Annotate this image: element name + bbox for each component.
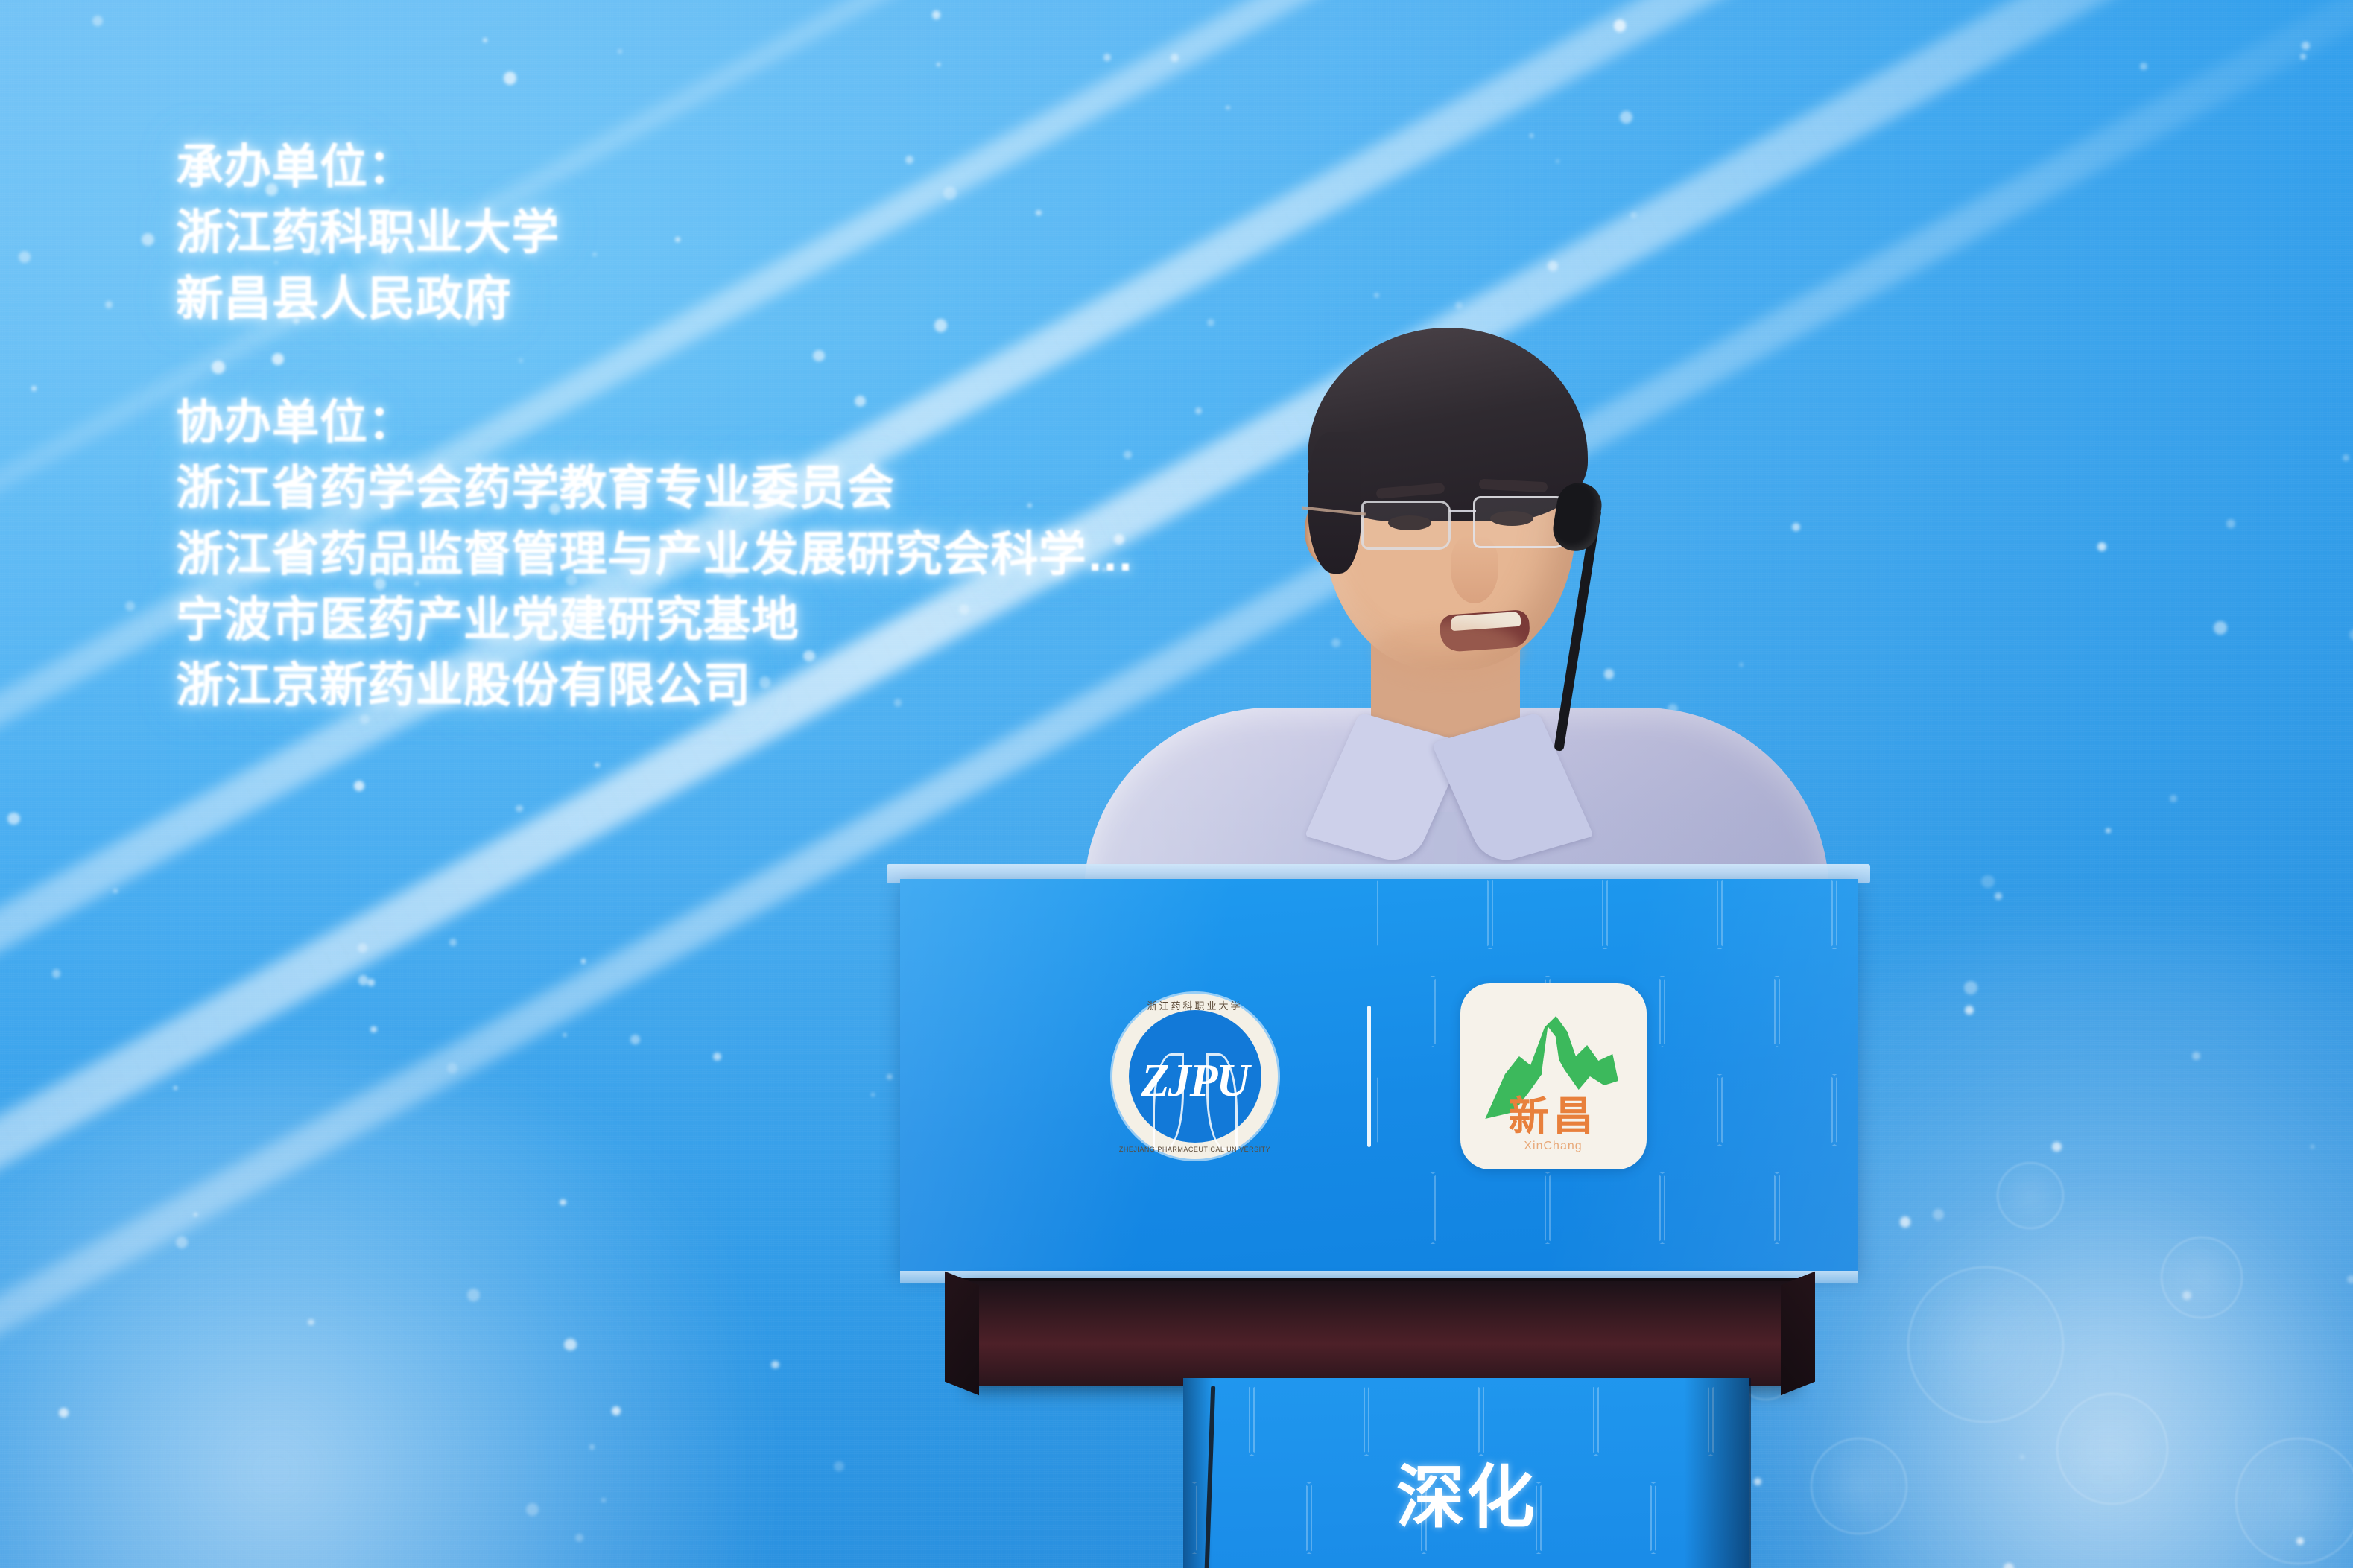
glasses-bridge [1449, 510, 1476, 512]
xinchang-label-en: XinChang [1460, 1140, 1647, 1153]
lens-right [1473, 496, 1567, 548]
xinchang-label-cn: 新昌 [1460, 1096, 1647, 1137]
desk-slab-right-bevel [1781, 1272, 1815, 1396]
university-seal-icon: 浙江药科职业大学 ZJPU ZHEJIANG PHARMACEUTICAL UN… [1112, 994, 1278, 1159]
speaker-hair-side [1308, 432, 1361, 574]
organizers-line-1: 浙江药科职业大学 [176, 200, 1134, 265]
slide-block-organizers: 承办单位： 浙江药科职业大学 新昌县人民政府 [176, 134, 1134, 331]
logo-divider [1367, 1006, 1371, 1147]
co-organizers-line-4: 浙江京新药业股份有限公司 [176, 653, 1134, 718]
co-organizers-line-3: 宁波市医药产业党建研究基地 [176, 587, 1134, 653]
desk-slab [969, 1281, 1796, 1386]
podium: 浙江药科职业大学 ZJPU ZHEJIANG PHARMACEUTICAL UN… [887, 864, 1870, 1568]
seal-inner-disc: ZJPU [1129, 1010, 1261, 1143]
co-organizers-line-1: 浙江省药学会药学教育专业委员会 [176, 455, 1134, 521]
slide-block-co-organizers: 协办单位： 浙江省药学会药学教育专业委员会 浙江省药品监督管理与产业发展研究会科… [176, 390, 1134, 719]
organizers-heading: 承办单位： [176, 134, 1134, 200]
xinchang-logo-icon: 新昌 XinChang [1460, 983, 1647, 1169]
organizers-line-2: 新昌县人民政府 [176, 266, 1134, 331]
slide-block-gap [176, 331, 1134, 390]
speaker-chin-shadow [1375, 621, 1524, 681]
co-organizers-line-2: 浙江省药品监督管理与产业发展研究会科学… [176, 521, 1134, 587]
eyeglasses [1361, 496, 1570, 554]
seal-ring-text-en: ZHEJIANG PHARMACEUTICAL UNIVERSITY [1112, 1146, 1278, 1153]
desk-slab-left-bevel [945, 1272, 979, 1396]
podium-front-text: 深化 [1183, 1460, 1749, 1537]
conference-photo-stage: 承办单位： 浙江药科职业大学 新昌县人民政府 协办单位： 浙江省药学会药学教育专… [0, 0, 2353, 1568]
slide-text-panel: 承办单位： 浙江药科职业大学 新昌县人民政府 协办单位： 浙江省药学会药学教育专… [176, 134, 1134, 719]
podium-logo-row: 浙江药科职业大学 ZJPU ZHEJIANG PHARMACEUTICAL UN… [900, 879, 1858, 1274]
lens-left [1361, 501, 1451, 550]
co-organizers-heading: 协办单位： [176, 390, 1134, 455]
seal-acronym: ZJPU [1129, 1055, 1261, 1108]
